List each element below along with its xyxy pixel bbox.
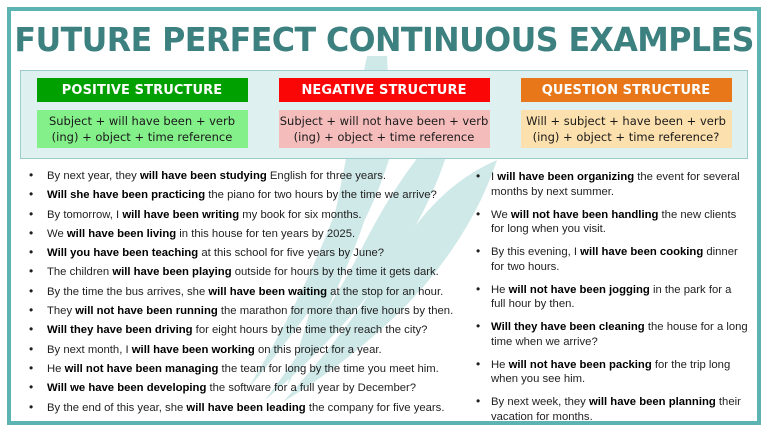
example-text: By next year, they — [47, 170, 140, 182]
example-highlight: will not have been handling — [511, 209, 659, 221]
example-text: for eight hours by the time they reach t… — [193, 324, 428, 336]
example-sentence: He will not have been packing for the tr… — [474, 358, 748, 387]
examples-column-left: By next year, they will have been studyi… — [20, 167, 467, 417]
structure-formula-line1: Subject + will not have been + verb — [280, 113, 489, 129]
example-text: the marathon for more than five hours by… — [218, 305, 453, 317]
structure-card-question: QUESTION STRUCTURE Will + subject + have… — [505, 71, 747, 158]
example-text: We — [491, 209, 511, 221]
example-highlight: Will we have been developing — [47, 382, 206, 394]
example-highlight: Will they have been cleaning — [491, 321, 645, 333]
structure-body-question: Will + subject + have been + verb (ing) … — [521, 110, 732, 148]
poster-page: FUTURE PERFECT CONTINUOUS EXAMPLES POSIT… — [0, 0, 768, 432]
structures-panel: POSITIVE STRUCTURE Subject + will have b… — [20, 70, 748, 159]
example-highlight: will have been waiting — [208, 286, 327, 298]
example-list-left: By next year, they will have been studyi… — [25, 170, 467, 415]
examples-section: By next year, they will have been studyi… — [20, 167, 748, 417]
example-text: By next week, they — [491, 396, 589, 408]
example-highlight: will not have been packing — [509, 359, 652, 371]
example-text: English for three years. — [267, 170, 386, 182]
example-highlight: will have been studying — [140, 170, 267, 182]
example-sentence: We will have been living in this house f… — [25, 228, 467, 241]
example-sentence: By the end of this year, she will have b… — [25, 402, 467, 415]
example-sentence: Will she have been practicing the piano … — [25, 189, 467, 202]
example-list-right: I will have been organizing the event fo… — [474, 170, 748, 424]
example-text: We — [47, 228, 67, 240]
example-text: the company for five years. — [306, 402, 445, 414]
structure-card-negative: NEGATIVE STRUCTURE Subject + will not ha… — [263, 71, 505, 158]
example-text: The children — [47, 266, 112, 278]
structure-header-negative: NEGATIVE STRUCTURE — [279, 78, 490, 102]
example-sentence: By the time the bus arrives, she will ha… — [25, 286, 467, 299]
example-text: He — [491, 284, 509, 296]
example-highlight: will have been playing — [112, 266, 231, 278]
example-highlight: will not have been managing — [65, 363, 219, 375]
example-sentence: By next year, they will have been studyi… — [25, 170, 467, 183]
structure-formula-line1: Will + subject + have been + verb — [526, 113, 726, 129]
example-highlight: Will you have been teaching — [47, 247, 198, 259]
example-highlight: will have been leading — [186, 402, 305, 414]
example-highlight: will have been living — [67, 228, 176, 240]
example-sentence: I will have been organizing the event fo… — [474, 170, 748, 199]
example-sentence: By this evening, I will have been cookin… — [474, 245, 748, 274]
example-sentence: He will not have been managing the team … — [25, 363, 467, 376]
structure-header-question: QUESTION STRUCTURE — [521, 78, 732, 102]
structure-card-positive: POSITIVE STRUCTURE Subject + will have b… — [21, 71, 263, 158]
poster-title-text: FUTURE PERFECT CONTINUOUS EXAMPLES — [14, 23, 753, 56]
structure-body-negative: Subject + will not have been + verb (ing… — [279, 110, 490, 148]
structure-body-positive: Subject + will have been + verb (ing) + … — [37, 110, 248, 148]
example-sentence: By tomorrow, I will have been writing my… — [25, 209, 467, 222]
structure-header-positive: POSITIVE STRUCTURE — [37, 78, 248, 102]
structure-formula-line2: (ing) + object + time reference — [294, 129, 475, 145]
example-text: at the stop for an hour. — [327, 286, 443, 298]
example-sentence: Will they have been driving for eight ho… — [25, 324, 467, 337]
example-highlight: will not have been running — [75, 305, 217, 317]
example-text: outside for hours by the time it gets da… — [232, 266, 439, 278]
example-text: in this house for ten years by 2025. — [176, 228, 355, 240]
example-sentence: Will we have been developing the softwar… — [25, 382, 467, 395]
example-text: He — [491, 359, 509, 371]
example-text: the piano for two hours by the time we a… — [205, 189, 437, 201]
structure-formula-line1: Subject + will have been + verb — [49, 113, 235, 129]
example-text: By this evening, I — [491, 246, 580, 258]
example-text: the team for long by the time you meet h… — [218, 363, 438, 375]
example-text: my book for six months. — [239, 209, 361, 221]
example-text: They — [47, 305, 75, 317]
example-highlight: Will they have been driving — [47, 324, 193, 336]
example-highlight: will have been writing — [122, 209, 239, 221]
example-sentence: He will not have been jogging in the par… — [474, 283, 748, 312]
example-sentence: Will you have been teaching at this scho… — [25, 247, 467, 260]
example-sentence: They will not have been running the mara… — [25, 305, 467, 318]
example-highlight: Will she have been practicing — [47, 189, 205, 201]
examples-column-right: I will have been organizing the event fo… — [467, 167, 748, 417]
structure-formula-line2: (ing) + object + time reference? — [533, 129, 720, 145]
example-text: on this project for a year. — [255, 344, 382, 356]
structure-formula-line2: (ing) + object + time reference — [52, 129, 233, 145]
poster-card: FUTURE PERFECT CONTINUOUS EXAMPLES POSIT… — [7, 7, 761, 425]
example-text: By tomorrow, I — [47, 209, 122, 221]
example-sentence: The children will have been playing outs… — [25, 266, 467, 279]
example-highlight: will have been cooking — [580, 246, 703, 258]
example-text: He — [47, 363, 65, 375]
example-text: By next month, I — [47, 344, 132, 356]
example-highlight: will have been working — [132, 344, 255, 356]
example-highlight: will not have been jogging — [509, 284, 650, 296]
example-text: By the end of this year, she — [47, 402, 186, 414]
example-sentence: By next week, they will have been planni… — [474, 395, 748, 424]
example-sentence: By next month, I will have been working … — [25, 344, 467, 357]
example-text: the software for a full year by December… — [206, 382, 416, 394]
poster-title: FUTURE PERFECT CONTINUOUS EXAMPLES — [11, 15, 757, 63]
example-text: at this school for five years by June? — [198, 247, 384, 259]
example-highlight: will have been planning — [589, 396, 716, 408]
example-text: By the time the bus arrives, she — [47, 286, 208, 298]
example-sentence: Will they have been cleaning the house f… — [474, 320, 748, 349]
example-highlight: will have been organizing — [497, 171, 634, 183]
example-sentence: We will not have been handling the new c… — [474, 208, 748, 237]
